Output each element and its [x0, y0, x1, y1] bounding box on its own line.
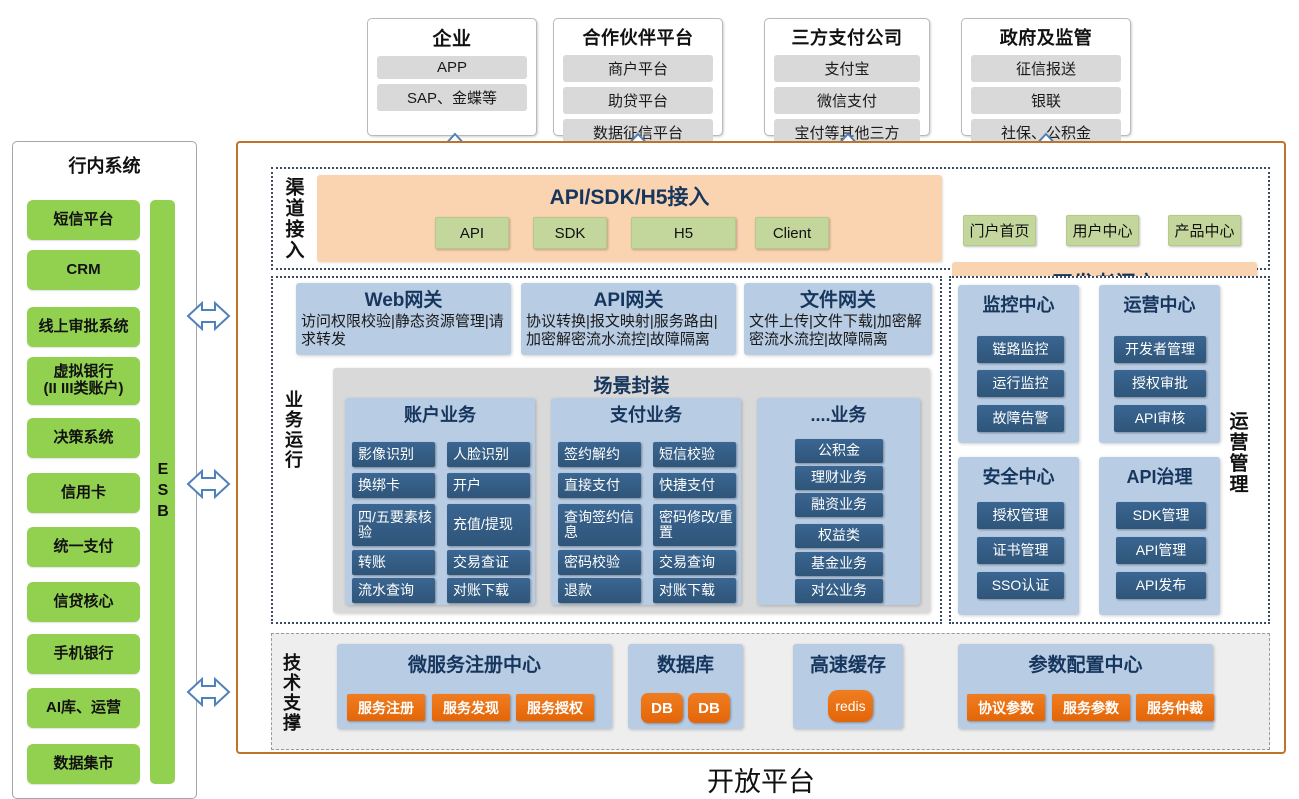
- scene-item[interactable]: 公积金: [795, 439, 883, 463]
- tech-item[interactable]: 服务发现: [432, 694, 510, 721]
- scene-item-label: 公积金: [818, 443, 860, 458]
- esb-bar: ESB: [150, 200, 175, 784]
- external-card-item: APP: [377, 56, 527, 79]
- external-card-item: SAP、金蝶等: [377, 84, 527, 111]
- scene-item-label: 基金业务: [811, 556, 867, 571]
- api-sdk-h5-access-panel: API/SDK/H5接入: [317, 175, 942, 262]
- scene-item[interactable]: 退款: [558, 578, 641, 603]
- access-chip-label: SDK: [555, 225, 586, 242]
- scene-item[interactable]: 对账下载: [653, 578, 736, 603]
- operation-item[interactable]: 授权审批: [1114, 370, 1206, 397]
- tech-item[interactable]: 服务仲裁: [1136, 694, 1214, 721]
- operation-item[interactable]: 开发者管理: [1114, 336, 1206, 363]
- arrow-left-right-icon: [186, 300, 231, 332]
- channel-access-vertical-label: 渠道接入: [278, 172, 308, 266]
- gateway-title: 文件网关: [744, 283, 932, 312]
- operation-item[interactable]: 链路监控: [977, 336, 1064, 363]
- page-title: 开放平台: [236, 760, 1286, 799]
- external-card-title: 企业: [377, 24, 527, 51]
- external-card-item: 银联: [971, 87, 1121, 114]
- scene-item-label: 理财业务: [811, 470, 867, 485]
- tech-panel-title: 参数配置中心: [958, 644, 1213, 677]
- tech-item-label: DB: [698, 700, 720, 717]
- scene-item-label: 密码修改/重置: [659, 510, 736, 541]
- scene-item[interactable]: 融资业务: [795, 493, 883, 517]
- scene-item[interactable]: 对账下载: [447, 578, 530, 603]
- scene-item[interactable]: 转账: [352, 550, 435, 575]
- scene-item[interactable]: 影像识别: [352, 442, 435, 467]
- api-sdk-h5-access-title: API/SDK/H5接入: [317, 175, 942, 211]
- external-card-item: 微信支付: [774, 87, 920, 114]
- operation-item-label: 授权管理: [993, 508, 1049, 523]
- scene-item-label: 交易查证: [453, 555, 509, 570]
- access-chip-client[interactable]: Client: [755, 217, 829, 249]
- operation-management-vertical-label: 运营管理: [1222, 388, 1252, 518]
- tech-item-db[interactable]: DB: [641, 693, 683, 723]
- external-card-partner-platform: 合作伙伴平台 商户平台 助贷平台 数据征信平台: [553, 18, 723, 136]
- scene-item-label: 融资业务: [811, 497, 867, 512]
- tech-panel-title: 数据库: [628, 644, 743, 677]
- developer-chip-home[interactable]: 门户首页: [963, 215, 1036, 246]
- diagram-root: 企业 APP SAP、金蝶等 合作伙伴平台 商户平台 助贷平台 数据征信平台 三…: [0, 0, 1299, 799]
- operation-item-label: API发布: [1136, 578, 1187, 593]
- scene-item[interactable]: 密码校验: [558, 550, 641, 575]
- scene-item-label: 对账下载: [453, 583, 509, 598]
- bank-system-item[interactable]: 决策系统: [27, 418, 140, 458]
- bank-system-label: 信贷核心: [53, 594, 113, 611]
- tech-item-label: 服务仲裁: [1147, 698, 1203, 718]
- scene-item[interactable]: 人脸识别: [447, 442, 530, 467]
- bank-system-item[interactable]: AI库、运营: [27, 688, 140, 728]
- bank-system-item[interactable]: 统一支付: [27, 527, 140, 567]
- bank-system-label: CRM: [66, 262, 100, 279]
- operation-item[interactable]: SDK管理: [1116, 502, 1206, 529]
- arrow-left-right-icon: [186, 676, 231, 708]
- developer-chip-label: 用户中心: [1072, 220, 1132, 241]
- operation-item[interactable]: 故障告警: [977, 405, 1064, 432]
- tech-item-label: 服务参数: [1063, 698, 1119, 718]
- developer-chip-product-center[interactable]: 产品中心: [1168, 215, 1241, 246]
- scene-item-label: 密码校验: [564, 555, 620, 570]
- operation-item-label: 授权审批: [1132, 376, 1188, 391]
- operation-panel-title: 运营中心: [1099, 285, 1220, 317]
- external-card-title: 合作伙伴平台: [563, 24, 713, 50]
- scene-item[interactable]: 权益类: [795, 524, 883, 548]
- scene-item-label: 换绑卡: [358, 478, 400, 493]
- scene-item-label: 对公业务: [811, 583, 867, 598]
- gateway-desc: 访问权限校验|静态资源管理|请求转发: [296, 312, 511, 348]
- bank-system-label: 数据集市: [53, 756, 113, 773]
- scene-item[interactable]: 流水查询: [352, 578, 435, 603]
- gateway-panel-web[interactable]: Web网关 访问权限校验|静态资源管理|请求转发: [296, 283, 511, 355]
- operation-item[interactable]: API审核: [1114, 405, 1206, 432]
- scene-item-label: 四/五要素核验: [358, 510, 435, 541]
- bank-system-label: 统一支付: [53, 539, 113, 556]
- bank-system-item[interactable]: CRM: [27, 250, 140, 290]
- operation-item-label: 运行监控: [993, 376, 1049, 391]
- gateway-desc: 协议转换|报文映射|服务路由|加密解密流水流控|故障隔离: [521, 312, 736, 348]
- scene-item[interactable]: 理财业务: [795, 466, 883, 490]
- operation-panel-title: 安全中心: [958, 457, 1079, 489]
- external-card-enterprise: 企业 APP SAP、金蝶等: [367, 18, 537, 136]
- scene-item-label: 查询签约信息: [564, 510, 641, 541]
- operation-item-label: 故障告警: [993, 411, 1049, 426]
- scene-group-title: 支付业务: [551, 398, 741, 427]
- access-chip-sdk[interactable]: SDK: [533, 217, 607, 249]
- bank-systems-title: 行内系统: [13, 152, 196, 178]
- tech-item[interactable]: 服务参数: [1052, 694, 1130, 721]
- tech-item-label: 服务注册: [358, 698, 414, 718]
- tech-item[interactable]: 服务授权: [516, 694, 594, 721]
- operation-item-label: API管理: [1136, 543, 1187, 558]
- tech-item[interactable]: 协议参数: [967, 694, 1045, 721]
- scene-item-label: 权益类: [818, 528, 860, 543]
- operation-item-label: 开发者管理: [1125, 342, 1195, 357]
- bank-system-label: 手机银行: [53, 646, 113, 663]
- scene-item-label: 影像识别: [358, 447, 414, 462]
- scene-item-label: 签约解约: [564, 447, 620, 462]
- bank-system-label: 信用卡: [61, 485, 106, 502]
- scene-group-title: ....业务: [757, 398, 920, 427]
- external-card-item: 助贷平台: [563, 87, 713, 114]
- scene-item[interactable]: 交易查询: [653, 550, 736, 575]
- scene-item-label: 对账下载: [659, 583, 715, 598]
- operation-item[interactable]: 证书管理: [977, 537, 1064, 564]
- operation-item-label: 链路监控: [993, 342, 1049, 357]
- bank-system-item[interactable]: 短信平台: [27, 200, 140, 240]
- operation-item[interactable]: API管理: [1116, 537, 1206, 564]
- external-card-title: 政府及监管: [971, 24, 1121, 50]
- bank-system-label: 短信平台: [53, 212, 113, 229]
- business-run-vertical-label: 业务运行: [278, 380, 308, 480]
- access-chip-label: API: [460, 225, 484, 242]
- scene-encapsulation-title: 场景封装: [333, 368, 930, 398]
- operation-item-label: SSO认证: [992, 578, 1050, 593]
- bank-system-item[interactable]: 线上审批系统: [27, 307, 140, 347]
- operation-panel-title: 监控中心: [958, 285, 1079, 317]
- scene-item[interactable]: 基金业务: [795, 552, 883, 576]
- scene-item-label: 直接支付: [564, 478, 620, 493]
- gateway-title: Web网关: [296, 283, 511, 312]
- tech-item-label: 服务发现: [443, 698, 499, 718]
- bank-system-item[interactable]: 数据集市: [27, 744, 140, 784]
- tech-item-label: DB: [651, 700, 673, 717]
- scene-item[interactable]: 充值/提现: [447, 504, 530, 546]
- scene-item-label: 开户: [453, 478, 481, 493]
- external-card-item: 征信报送: [971, 55, 1121, 82]
- operation-item[interactable]: 授权管理: [977, 502, 1064, 529]
- scene-item[interactable]: 四/五要素核验: [352, 504, 435, 546]
- tech-item-db[interactable]: DB: [688, 693, 730, 723]
- scene-item-label: 短信校验: [659, 447, 715, 462]
- scene-item[interactable]: 开户: [447, 473, 530, 498]
- external-card-government-regulator: 政府及监管 征信报送 银联 社保、公积金: [961, 18, 1131, 136]
- bank-system-item[interactable]: 信用卡: [27, 473, 140, 513]
- bank-system-item[interactable]: 信贷核心: [27, 582, 140, 622]
- external-card-item: 商户平台: [563, 55, 713, 82]
- scene-item-label: 交易查询: [659, 555, 715, 570]
- developer-chip-label: 门户首页: [969, 220, 1029, 241]
- scene-item-label: 快捷支付: [659, 478, 715, 493]
- scene-item-label: 充值/提现: [453, 517, 513, 532]
- scene-item[interactable]: 快捷支付: [653, 473, 736, 498]
- tech-panel-title: 微服务注册中心: [337, 644, 612, 677]
- operation-item[interactable]: SSO认证: [977, 572, 1064, 599]
- external-card-third-party-payment: 三方支付公司 支付宝 微信支付 宝付等其他三方: [764, 18, 930, 136]
- scene-item[interactable]: 换绑卡: [352, 473, 435, 498]
- scene-item-label: 转账: [358, 555, 386, 570]
- operation-item-label: SDK管理: [1133, 508, 1190, 523]
- developer-chip-label: 产品中心: [1174, 220, 1234, 241]
- operation-item[interactable]: 运行监控: [977, 370, 1064, 397]
- tech-item-label: 协议参数: [978, 698, 1034, 718]
- esb-label: ESB: [154, 461, 172, 524]
- arrow-left-right-icon: [186, 468, 231, 500]
- tech-item-label: 服务授权: [527, 698, 583, 718]
- bank-system-label: AI库、运营: [46, 700, 121, 717]
- gateway-panel-api[interactable]: API网关 协议转换|报文映射|服务路由|加密解密流水流控|故障隔离: [521, 283, 736, 355]
- bank-system-item[interactable]: 虚拟银行 (II III类账户): [27, 357, 140, 405]
- scene-item[interactable]: 直接支付: [558, 473, 641, 498]
- operation-item[interactable]: API发布: [1116, 572, 1206, 599]
- scene-item[interactable]: 签约解约: [558, 442, 641, 467]
- external-card-item: 支付宝: [774, 55, 920, 82]
- operation-item-label: 证书管理: [993, 543, 1049, 558]
- tech-item-redis[interactable]: redis: [828, 690, 873, 722]
- operation-item-label: API审核: [1135, 411, 1186, 426]
- bank-system-label: 决策系统: [53, 430, 113, 447]
- access-chip-h5[interactable]: H5: [631, 217, 736, 249]
- gateway-title: API网关: [521, 283, 736, 312]
- access-chip-label: H5: [674, 225, 693, 242]
- gateway-panel-file[interactable]: 文件网关 文件上传|文件下载|加密解密流水流控|故障隔离: [744, 283, 932, 355]
- access-chip-label: Client: [773, 225, 811, 242]
- scene-group-title: 账户业务: [345, 398, 535, 427]
- bank-system-item[interactable]: 手机银行: [27, 634, 140, 674]
- scene-item-label: 退款: [564, 583, 592, 598]
- bank-system-label: 线上审批系统: [38, 319, 128, 336]
- tech-panel-title: 高速缓存: [793, 644, 903, 677]
- gateway-desc: 文件上传|文件下载|加密解密流水流控|故障隔离: [744, 312, 932, 348]
- scene-item[interactable]: 短信校验: [653, 442, 736, 467]
- tech-support-vertical-label: 技术支撑: [277, 645, 305, 740]
- scene-item[interactable]: 交易查证: [447, 550, 530, 575]
- tech-item-label: redis: [835, 698, 865, 714]
- operation-panel-title: API治理: [1099, 457, 1220, 489]
- scene-item[interactable]: 查询签约信息: [558, 504, 641, 546]
- scene-item-label: 人脸识别: [453, 447, 509, 462]
- scene-item[interactable]: 密码修改/重置: [653, 504, 736, 546]
- bank-system-label: 虚拟银行 (II III类账户): [44, 364, 124, 398]
- external-card-title: 三方支付公司: [774, 24, 920, 50]
- developer-chip-user-center[interactable]: 用户中心: [1066, 215, 1139, 246]
- scene-item[interactable]: 对公业务: [795, 579, 883, 603]
- access-chip-api[interactable]: API: [435, 217, 509, 249]
- scene-item-label: 流水查询: [358, 583, 414, 598]
- tech-item[interactable]: 服务注册: [347, 694, 425, 721]
